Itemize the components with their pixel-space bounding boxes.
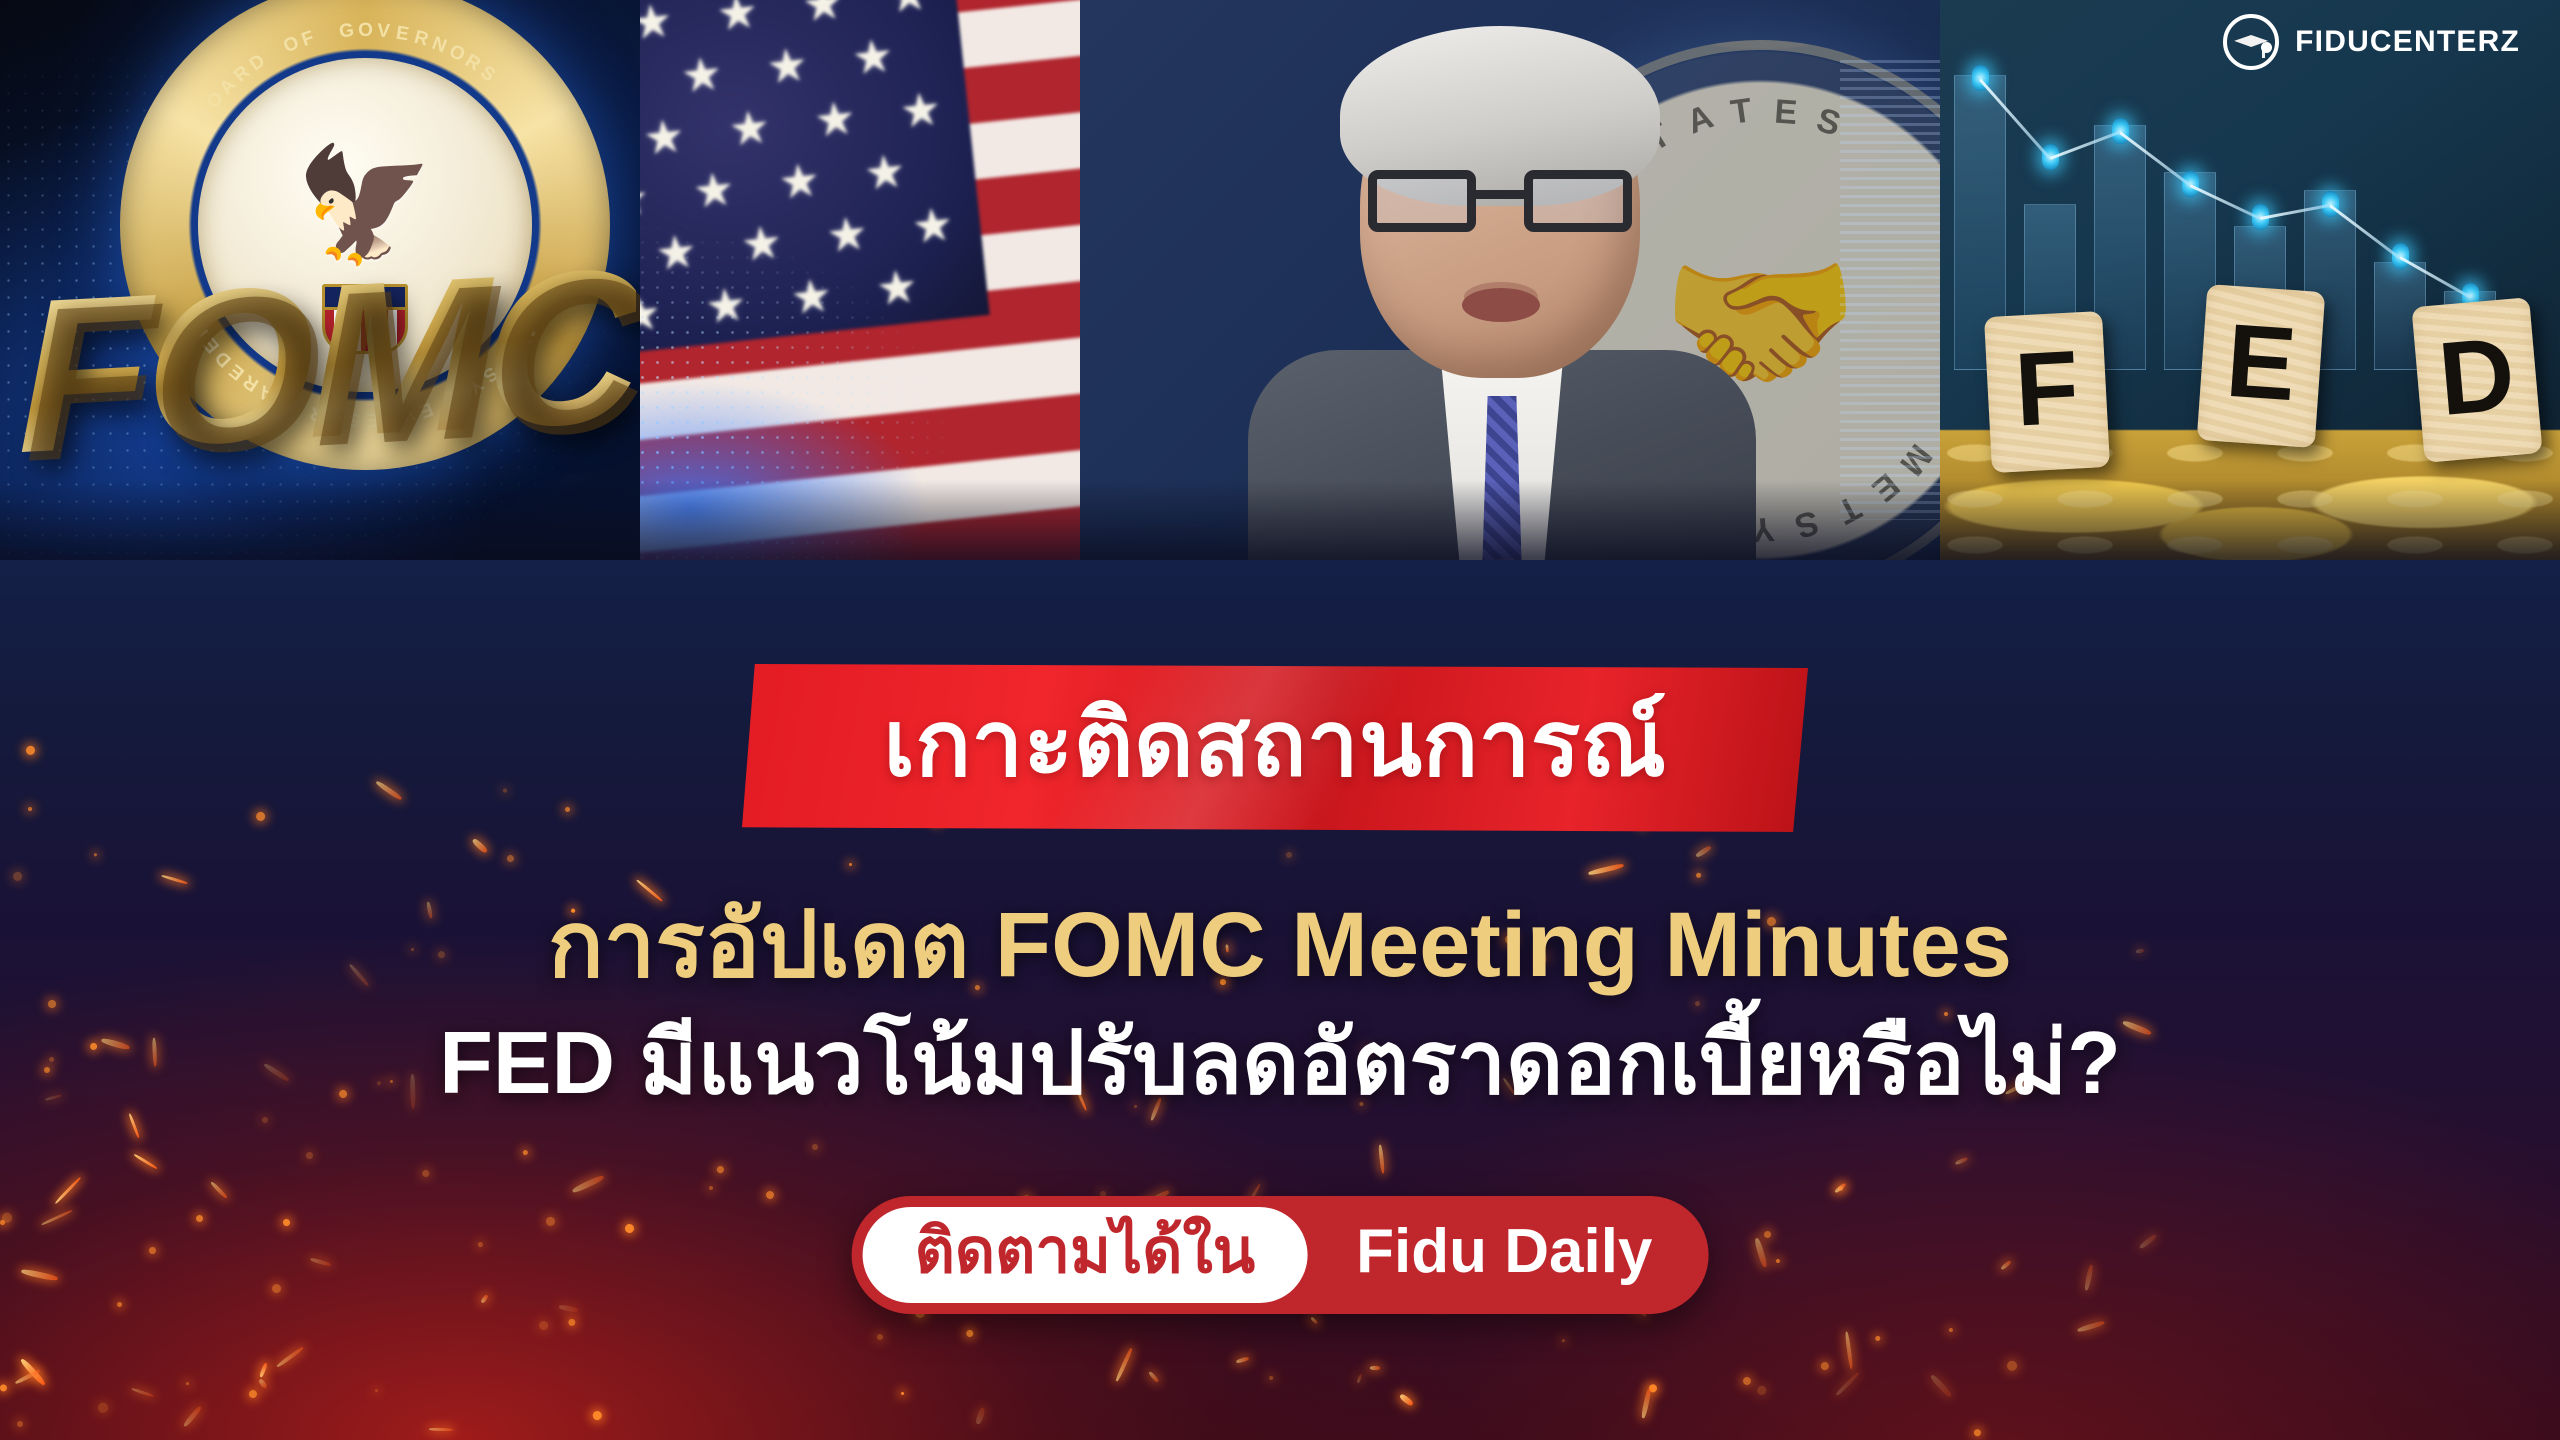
status-banner-label: เกาะติดสถานการณ์ xyxy=(883,698,1666,790)
headline-primary: การอัปเดต FOMC Meeting Minutes xyxy=(0,895,2560,996)
wooden-block-d: D xyxy=(2411,297,2542,463)
brand-logo[interactable]: FIDUCENTERZ xyxy=(2223,14,2520,70)
follow-cta-pill[interactable]: ติดตามได้ใน Fidu Daily xyxy=(852,1196,1709,1314)
hero-collage: BOARD OF GOVERNORSMETSYS EVRESER LAREDEF… xyxy=(0,0,2560,620)
portrait-mouth xyxy=(1462,288,1540,322)
cta-channel-chip: Fidu Daily xyxy=(1318,1196,1708,1314)
poster-canvas: BOARD OF GOVERNORSMETSYS EVRESER LAREDEF… xyxy=(0,0,2560,1440)
wooden-block-f: F xyxy=(1984,311,2110,473)
cta-channel-label: Fidu Daily xyxy=(1356,1221,1652,1283)
brand-logo-text: FIDUCENTERZ xyxy=(2295,25,2520,59)
cta-prefix-label: ติดตามได้ใน xyxy=(915,1221,1256,1283)
glasses-icon xyxy=(1368,170,1632,232)
graduation-cap-circle-icon xyxy=(2223,14,2279,70)
headline-secondary: FED มีแนวโน้มปรับลดอัตราดอกเบี้ยหรือไม่? xyxy=(0,1015,2560,1112)
fomc-3d-text: FOMC xyxy=(18,252,636,472)
status-banner: เกาะติดสถานการณ์ xyxy=(742,664,1808,832)
cta-prefix-chip: ติดตามได้ใน xyxy=(858,1202,1313,1308)
wooden-block-e: E xyxy=(2197,284,2326,448)
